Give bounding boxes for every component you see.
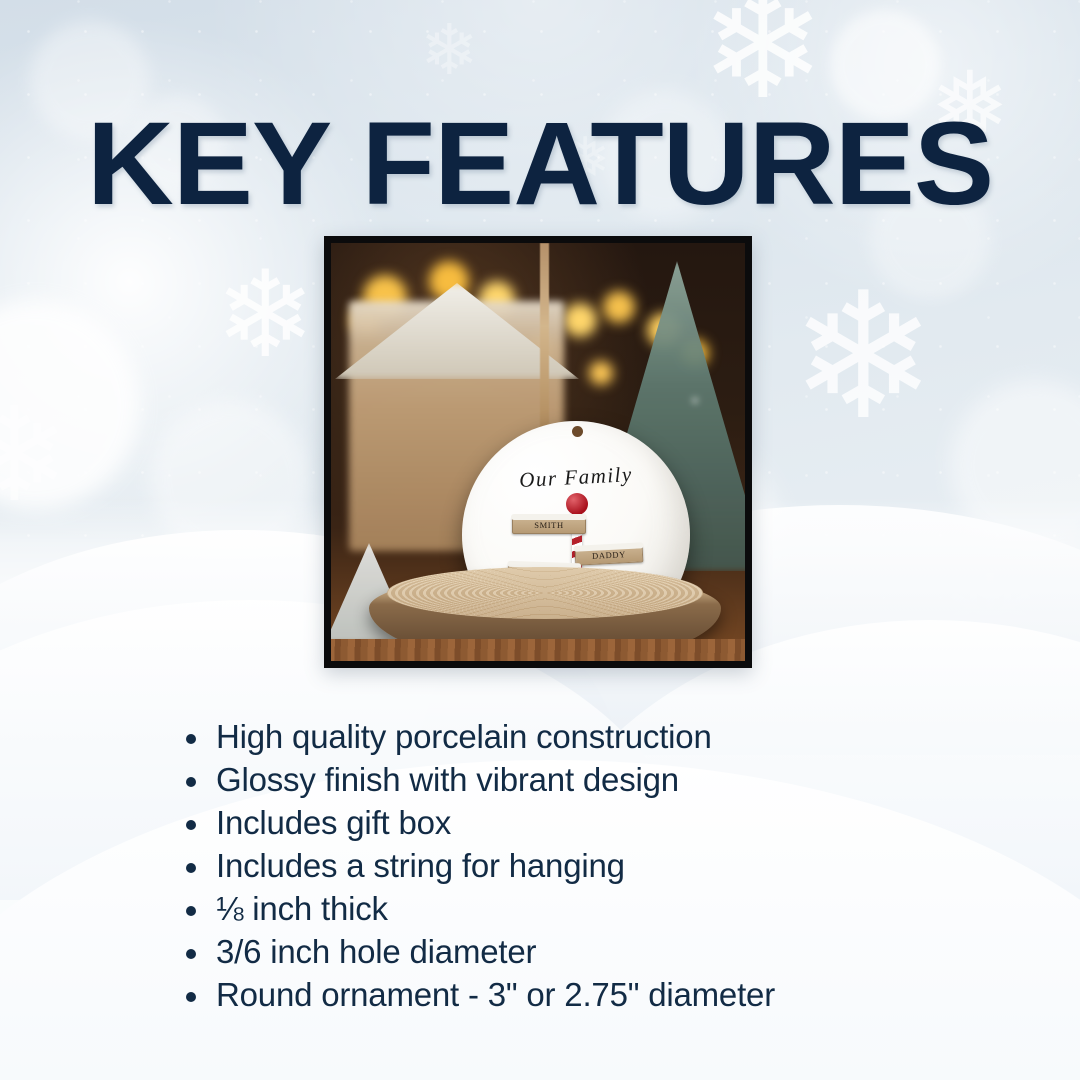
bokeh-light bbox=[563, 303, 597, 337]
feature-label: Includes a string for hanging bbox=[216, 847, 625, 884]
bullet-icon bbox=[186, 777, 196, 787]
list-item: Round ornament - 3" or 2.75" diameter bbox=[186, 976, 1046, 1013]
list-item: Includes a string for hanging bbox=[186, 847, 1046, 884]
signpost-label: SMITH bbox=[512, 517, 586, 534]
list-item: High quality porcelain construction bbox=[186, 718, 1046, 755]
feature-label: Glossy finish with vibrant design bbox=[216, 761, 679, 798]
signpost-label: DADDY bbox=[575, 545, 644, 566]
list-item: ⅛ inch thick bbox=[186, 890, 1046, 927]
product-image: Our Family SMITH DADDY MOMMY ARES bbox=[324, 236, 752, 668]
bullet-icon bbox=[186, 992, 196, 1002]
feature-label: Includes gift box bbox=[216, 804, 451, 841]
bokeh-light bbox=[603, 291, 635, 323]
poster-canvas: ❄ ❅ ❄ ❄ ❄ ❄ ❅ ❄ ❄ ❅ KEY FEATURES bbox=[0, 0, 1080, 1080]
page-title: KEY FEATURES bbox=[0, 96, 1080, 232]
wooden-table bbox=[324, 639, 752, 668]
bullet-icon bbox=[186, 863, 196, 873]
feature-label: ⅛ inch thick bbox=[216, 890, 388, 927]
bullet-icon bbox=[186, 734, 196, 744]
bullet-icon bbox=[186, 820, 196, 830]
list-item: 3/6 inch hole diameter bbox=[186, 933, 1046, 970]
wood-slice-top bbox=[387, 567, 703, 619]
ornament-hole bbox=[572, 426, 583, 437]
bullet-icon bbox=[186, 949, 196, 959]
ornament-script-text: Our Family bbox=[462, 459, 690, 496]
feature-label: 3/6 inch hole diameter bbox=[216, 933, 536, 970]
hanging-twine-string bbox=[540, 243, 549, 451]
bullet-icon bbox=[186, 906, 196, 916]
features-list: High quality porcelain construction Glos… bbox=[186, 718, 1046, 1019]
list-item: Glossy finish with vibrant design bbox=[186, 761, 1046, 798]
pole-top-ball bbox=[566, 493, 588, 515]
list-item: Includes gift box bbox=[186, 804, 1046, 841]
feature-label: High quality porcelain construction bbox=[216, 718, 712, 755]
bokeh-light bbox=[589, 361, 613, 385]
feature-label: Round ornament - 3" or 2.75" diameter bbox=[216, 976, 775, 1013]
